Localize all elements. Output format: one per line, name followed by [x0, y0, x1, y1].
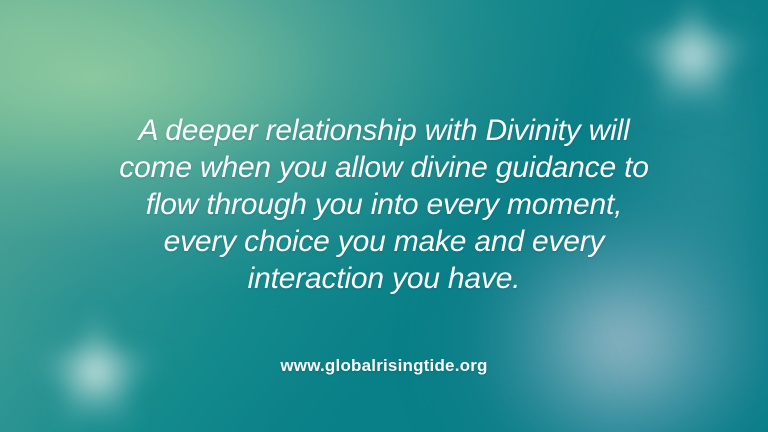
quote-line: every choice you make and every	[70, 223, 698, 260]
quote-line: A deeper relationship with Divinity will	[70, 112, 698, 149]
quote-line: flow through you into every moment,	[70, 186, 698, 223]
quote-line: interaction you have.	[70, 260, 698, 297]
quote-card: A deeper relationship with Divinity will…	[0, 0, 768, 432]
website-url[interactable]: www.globalrisingtide.org	[0, 356, 768, 376]
quote-line: come when you allow divine guidance to	[70, 149, 698, 186]
quote-text: A deeper relationship with Divinity will…	[0, 112, 768, 297]
